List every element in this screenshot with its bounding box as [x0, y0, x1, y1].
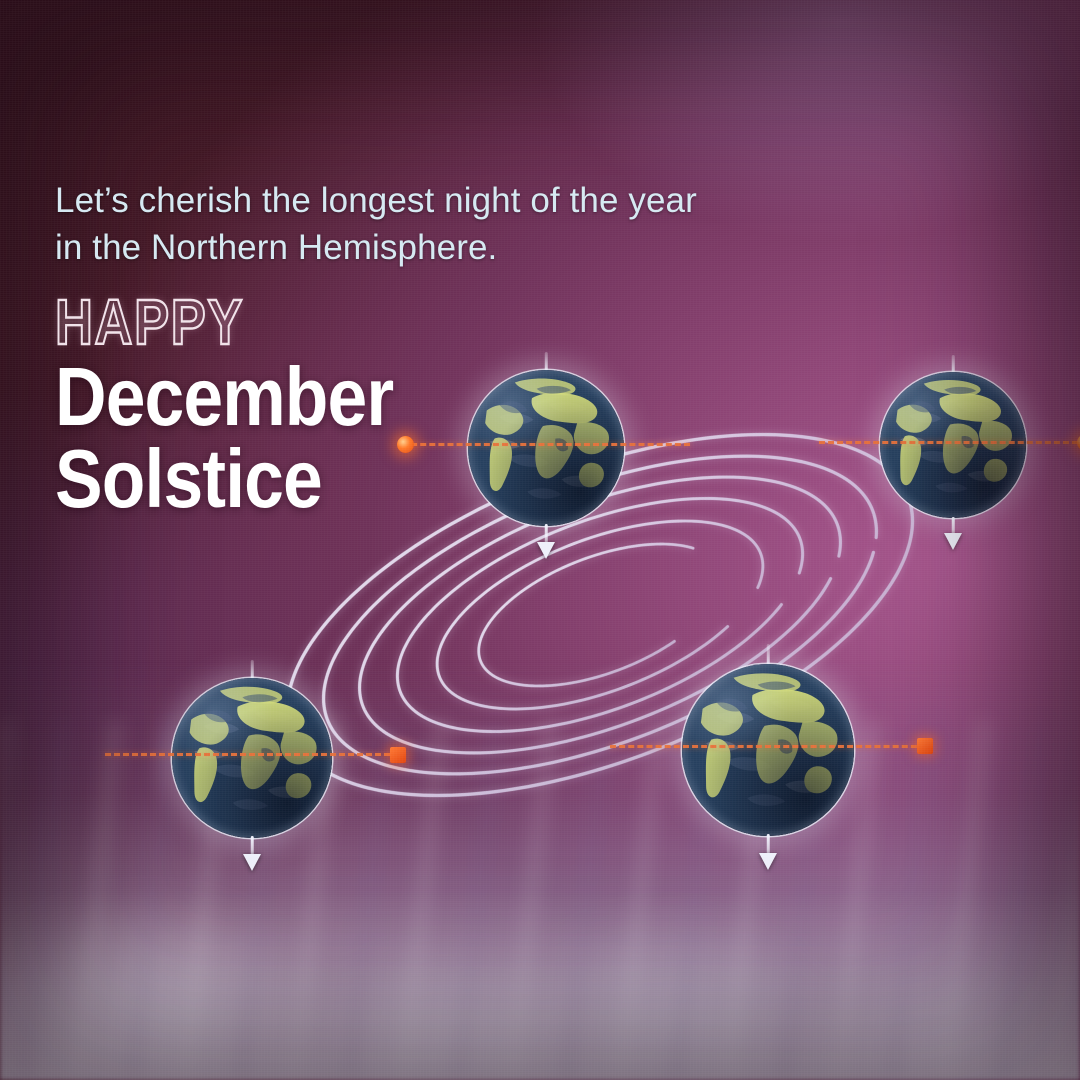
background-grain — [0, 0, 1080, 1080]
tagline: Let’s cherish the longest night of the y… — [55, 178, 885, 271]
headline-line-1: December — [55, 356, 769, 438]
headline-line-2: Solstice — [55, 438, 769, 520]
tagline-line-2: in the Northern Hemisphere. — [55, 225, 885, 272]
copy-block: Let’s cherish the longest night of the y… — [55, 178, 885, 520]
december-solstice-poster: Let’s cherish the longest night of the y… — [0, 0, 1080, 1080]
tagline-line-1: Let’s cherish the longest night of the y… — [55, 178, 885, 225]
happy-outline-text: HAPPY — [55, 293, 736, 352]
headline: December Solstice — [55, 356, 769, 520]
